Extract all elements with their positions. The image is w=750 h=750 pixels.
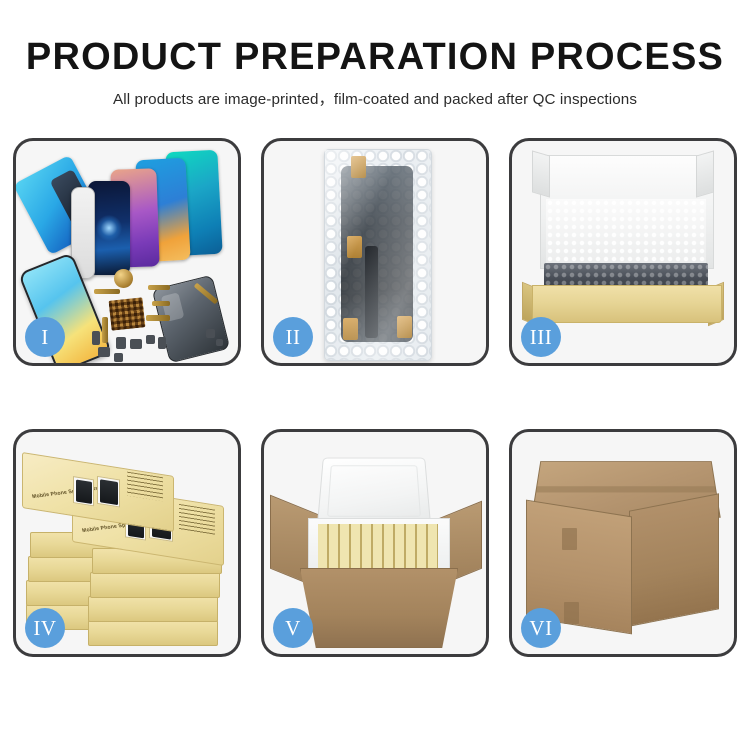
step-panel-3: III: [509, 138, 737, 366]
flex-cable-icon: [146, 315, 170, 321]
small-part-icon: [130, 339, 142, 349]
flex-cable-icon: [102, 317, 108, 343]
flex-cable-icon: [94, 289, 120, 294]
printed-box-lid-icon: Mobile Phone Spare Parts: [22, 452, 174, 532]
page-subtitle: All products are image-printed，film-coat…: [0, 87, 750, 109]
bubble-wrap-bag-icon: [324, 149, 432, 361]
carton-tape-icon: [562, 528, 577, 550]
process-steps-grid: I II III: [13, 138, 737, 657]
tape-icon: [351, 156, 366, 178]
tape-icon: [347, 236, 362, 258]
step-panel-5: V: [261, 429, 489, 657]
small-part-icon: [116, 337, 126, 349]
carton-body-icon: [300, 568, 458, 648]
small-part-icon: [98, 347, 110, 357]
kraft-box-tray-icon: [532, 285, 722, 323]
step-panel-4: Mobile Phone Spare Parts Mobile Phone Sp…: [13, 429, 241, 657]
tape-icon: [397, 316, 412, 338]
styrofoam-lid-icon: [317, 458, 431, 527]
box-lid-flap-left-icon: [532, 150, 550, 197]
page-title: PRODUCT PREPARATION PROCESS: [0, 38, 750, 78]
chip-array-icon: [109, 297, 146, 330]
step-panel-2: II: [261, 138, 489, 366]
small-part-icon: [146, 335, 155, 344]
step-badge-5: V: [273, 608, 313, 648]
small-part-icon: [92, 331, 100, 345]
page-header: PRODUCT PREPARATION PROCESS All products…: [0, 0, 750, 109]
foam-sheet-icon: [546, 199, 706, 265]
screw-icon: [206, 329, 215, 338]
box-lid-flap-right-icon: [696, 150, 714, 197]
step-panel-6: VI: [509, 429, 737, 657]
step-badge-3: III: [521, 317, 561, 357]
step-badge-6: VI: [521, 608, 561, 648]
small-part-icon: [114, 353, 123, 362]
step-badge-2: II: [273, 317, 313, 357]
tape-icon: [343, 318, 358, 340]
carton-side-icon: [629, 493, 719, 626]
wrapped-flex-cable-icon: [365, 246, 378, 338]
box-window-icon: [73, 476, 94, 506]
flex-cable-icon: [148, 285, 170, 290]
screw-icon: [216, 339, 223, 346]
step-badge-1: I: [25, 317, 65, 357]
step-badge-4: IV: [25, 608, 65, 648]
speaker-module-icon: [114, 269, 133, 288]
box-spec-lines-icon: [127, 472, 163, 502]
stacked-box-icon: [88, 620, 218, 646]
packed-yellow-boxes-icon: [318, 524, 438, 568]
flex-cable-icon: [152, 301, 170, 306]
box-spec-lines-icon: [179, 504, 215, 536]
carton-tape-icon: [564, 602, 579, 624]
small-part-icon: [158, 337, 166, 349]
box-window-icon: [97, 476, 120, 508]
stacked-box-icon: [88, 596, 218, 622]
step-panel-1: I: [13, 138, 241, 366]
stacked-box-icon: [90, 572, 220, 598]
